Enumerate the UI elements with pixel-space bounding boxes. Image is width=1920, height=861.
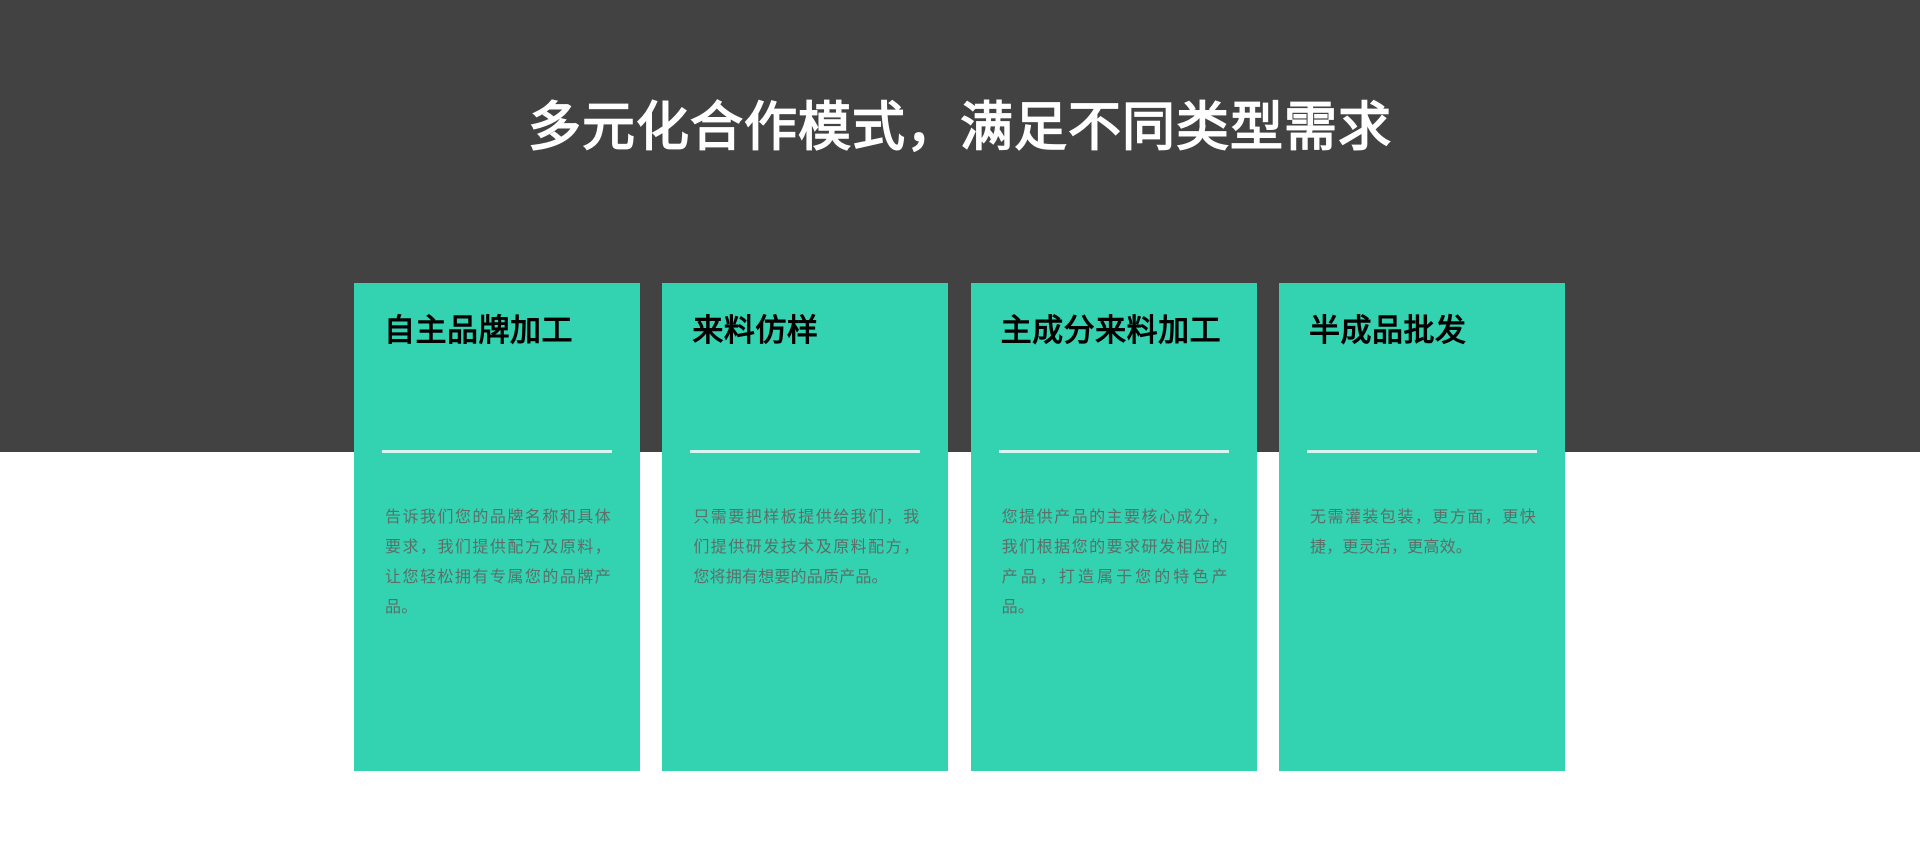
cooperation-mode-card-4[interactable]: 半成品批发 无需灌装包装，更方面，更快捷，更灵活，更高效。 xyxy=(1279,283,1565,771)
card-description: 告诉我们您的品牌名称和具体要求，我们提供配方及原料，让您轻松拥有专属您的品牌产品… xyxy=(385,502,611,622)
card-divider xyxy=(382,450,612,453)
card-title: 来料仿样 xyxy=(692,309,924,353)
cooperation-mode-card-1[interactable]: 自主品牌加工 告诉我们您的品牌名称和具体要求，我们提供配方及原料，让您轻松拥有专… xyxy=(354,283,640,771)
card-title: 自主品牌加工 xyxy=(384,309,616,353)
card-description: 您提供产品的主要核心成分，我们根据您的要求研发相应的产品，打造属于您的特色产品。 xyxy=(1002,502,1228,622)
page-title: 多元化合作模式，满足不同类型需求 xyxy=(0,96,1920,160)
card-divider xyxy=(999,450,1229,453)
card-divider xyxy=(690,450,920,453)
card-title: 主成分来料加工 xyxy=(1001,309,1233,353)
card-description: 只需要把样板提供给我们，我们提供研发技术及原料配方，您将拥有想要的品质产品。 xyxy=(693,502,919,592)
cooperation-mode-card-2[interactable]: 来料仿样 只需要把样板提供给我们，我们提供研发技术及原料配方，您将拥有想要的品质… xyxy=(662,283,948,771)
cooperation-mode-card-3[interactable]: 主成分来料加工 您提供产品的主要核心成分，我们根据您的要求研发相应的产品，打造属… xyxy=(971,283,1257,771)
card-description: 无需灌装包装，更方面，更快捷，更灵活，更高效。 xyxy=(1310,502,1536,562)
card-divider xyxy=(1307,450,1537,453)
cooperation-mode-card-list: 自主品牌加工 告诉我们您的品牌名称和具体要求，我们提供配方及原料，让您轻松拥有专… xyxy=(354,283,1565,771)
card-title: 半成品批发 xyxy=(1309,309,1541,353)
